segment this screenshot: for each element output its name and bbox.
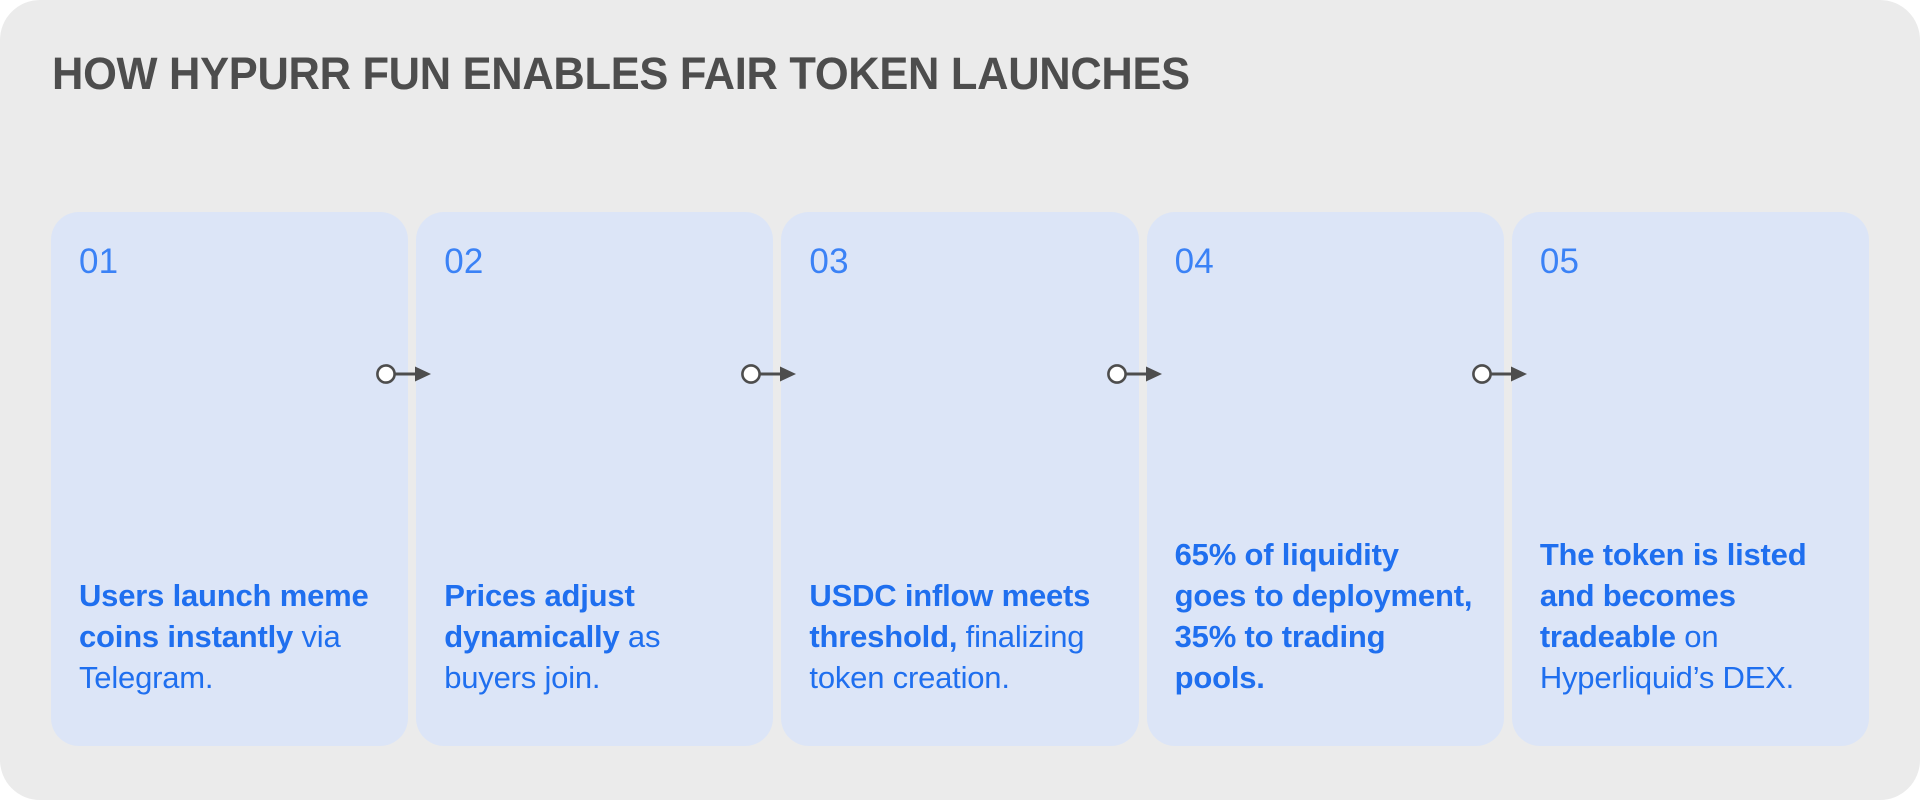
step-description: The token is listed and becomes tradeabl… — [1540, 534, 1841, 720]
step-description: USDC inflow meets threshold, finalizing … — [809, 575, 1110, 720]
step-card-03: 03 USDC inflow meets threshold, finalizi… — [781, 212, 1138, 746]
step-card-04: 04 65% of liquidity goes to deployment, … — [1147, 212, 1504, 746]
infographic-root: HOW HYPURR FUN ENABLES FAIR TOKEN LAUNCH… — [0, 0, 1920, 807]
step-description: Prices adjust dynamically as buyers join… — [444, 575, 745, 720]
card-spacer — [79, 282, 380, 575]
card-spacer — [1540, 282, 1841, 534]
infographic-panel: HOW HYPURR FUN ENABLES FAIR TOKEN LAUNCH… — [0, 0, 1920, 800]
page-title: HOW HYPURR FUN ENABLES FAIR TOKEN LAUNCH… — [52, 48, 1190, 100]
step-description-bold: Prices adjust dynamically — [444, 578, 634, 654]
card-spacer — [1175, 282, 1476, 534]
step-card-02: 02 Prices adjust dynamically as buyers j… — [416, 212, 773, 746]
step-number: 01 — [79, 242, 380, 282]
step-description: Users launch meme coins instantly via Te… — [79, 575, 380, 720]
steps-row: 01 Users launch meme coins instantly via… — [51, 212, 1869, 746]
step-description-bold: 65% of liquidity goes to deployment, 35%… — [1175, 537, 1473, 695]
step-number: 05 — [1540, 242, 1841, 282]
step-number: 03 — [809, 242, 1110, 282]
step-card-01: 01 Users launch meme coins instantly via… — [51, 212, 408, 746]
step-description: 65% of liquidity goes to deployment, 35%… — [1175, 534, 1476, 720]
card-spacer — [809, 282, 1110, 575]
step-number: 04 — [1175, 242, 1476, 282]
step-card-05: 05 The token is listed and becomes trade… — [1512, 212, 1869, 746]
card-spacer — [444, 282, 745, 575]
step-description-bold: The token is listed and becomes tradeabl… — [1540, 537, 1807, 654]
step-number: 02 — [444, 242, 745, 282]
